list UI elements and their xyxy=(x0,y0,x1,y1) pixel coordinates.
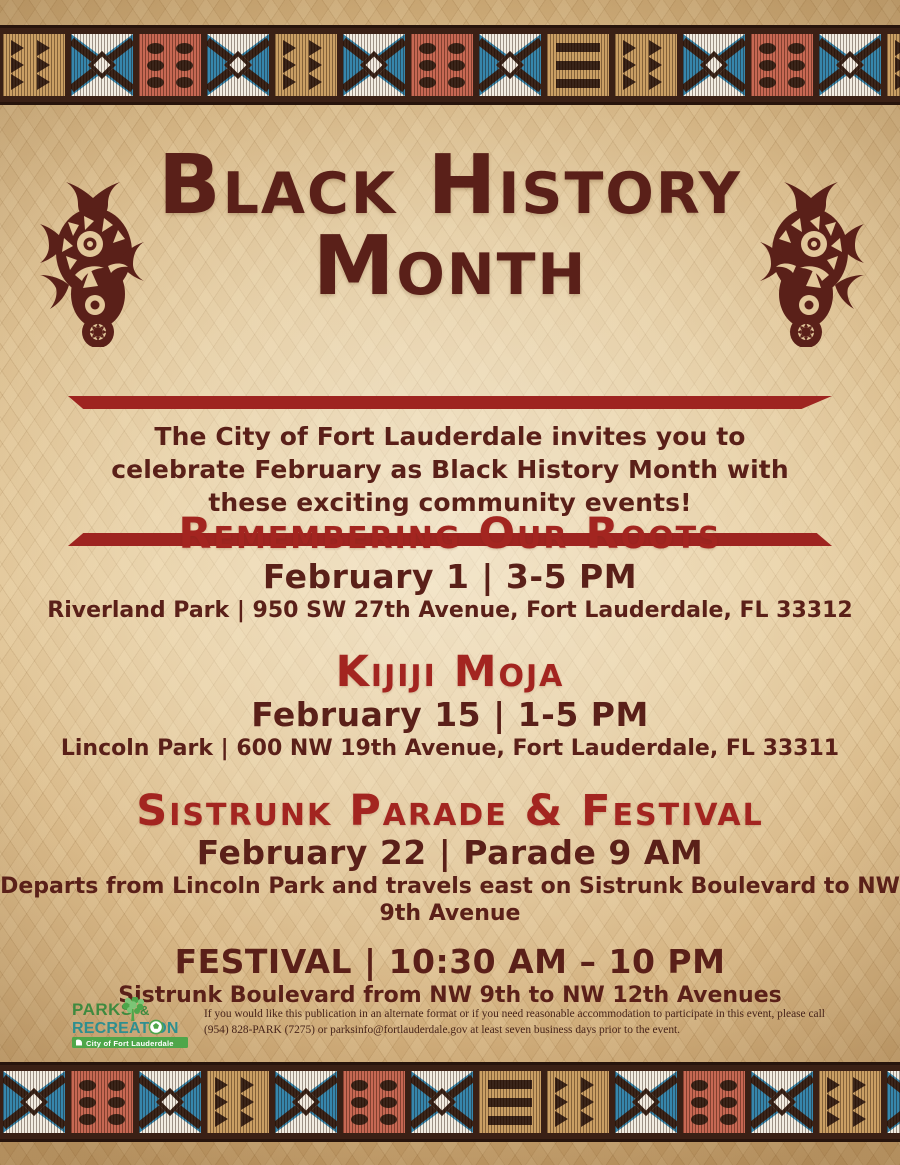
event-title: Sistrunk Parade & Festival xyxy=(0,789,900,835)
event-location: Departs from Lincoln Park and travels ea… xyxy=(0,874,900,928)
border-tile-dots xyxy=(343,1071,405,1133)
border-tile-dots xyxy=(139,34,201,96)
border-tile-triangles xyxy=(275,34,337,96)
event-item: Remembering Our Roots February 1 | 3-5 P… xyxy=(0,512,900,624)
border-tile-x-diamond xyxy=(343,34,405,96)
title-line-1: Black History xyxy=(0,148,900,223)
event-item: Kijiji Moja February 15 | 1-5 PM Lincoln… xyxy=(0,650,900,762)
border-tile-triangles xyxy=(819,1071,881,1133)
border-tile-triangles xyxy=(3,34,65,96)
border-tile-x-diamond xyxy=(819,34,881,96)
border-tile-dots xyxy=(71,1071,133,1133)
border-tile-triangles xyxy=(887,34,900,96)
border-tile-dots xyxy=(411,34,473,96)
event-location: Riverland Park | 950 SW 27th Avenue, For… xyxy=(0,598,900,625)
event-datetime: February 22 | Parade 9 AM xyxy=(0,835,900,872)
rule-top xyxy=(68,396,832,409)
accessibility-notice: If you would like this publication in an… xyxy=(204,994,830,1038)
parks-recreation-logo: PARKS & RECREATION City xyxy=(70,994,190,1054)
events-list: Remembering Our Roots February 1 | 3-5 P… xyxy=(0,512,900,1036)
border-tile-x-diamond xyxy=(207,34,269,96)
border-tile-x-diamond xyxy=(751,1071,813,1133)
event-title: Kijiji Moja xyxy=(0,650,900,696)
poster: Black History Month The City of Fort Lau… xyxy=(0,0,900,1165)
border-tile-x-diamond xyxy=(3,1071,65,1133)
border-tile-dots xyxy=(683,1071,745,1133)
bottom-decorative-border xyxy=(0,1062,900,1142)
page-title: Black History Month xyxy=(0,148,900,305)
border-tile-x-diamond xyxy=(887,1071,900,1133)
border-tile-x-diamond xyxy=(275,1071,337,1133)
border-tile-x-diamond xyxy=(71,34,133,96)
border-tile-x-diamond xyxy=(411,1071,473,1133)
border-tile-x-diamond xyxy=(479,34,541,96)
event-location: Lincoln Park | 600 NW 19th Avenue, Fort … xyxy=(0,736,900,763)
border-tile-triangles xyxy=(547,1071,609,1133)
event-datetime: February 1 | 3-5 PM xyxy=(0,559,900,596)
festival-datetime: FESTIVAL | 10:30 AM – 10 PM xyxy=(0,944,900,981)
border-tile-dots xyxy=(751,34,813,96)
footer: PARKS & RECREATION City xyxy=(70,994,830,1054)
event-datetime: February 15 | 1-5 PM xyxy=(0,697,900,734)
event-title: Remembering Our Roots xyxy=(0,512,900,558)
border-tile-x-diamond xyxy=(139,1071,201,1133)
logo-parks-text: PARKS xyxy=(72,1000,133,1019)
top-decorative-border xyxy=(0,25,900,105)
logo-tagline-text: City of Fort Lauderdale xyxy=(86,1039,174,1048)
title-line-2: Month xyxy=(0,229,900,304)
border-tile-triangles xyxy=(207,1071,269,1133)
border-tile-x-diamond xyxy=(683,34,745,96)
border-tile-x-diamond xyxy=(615,1071,677,1133)
event-item: Sistrunk Parade & Festival February 22 |… xyxy=(0,789,900,1010)
border-tile-bars xyxy=(547,34,609,96)
border-tile-bars xyxy=(479,1071,541,1133)
border-tile-triangles xyxy=(615,34,677,96)
